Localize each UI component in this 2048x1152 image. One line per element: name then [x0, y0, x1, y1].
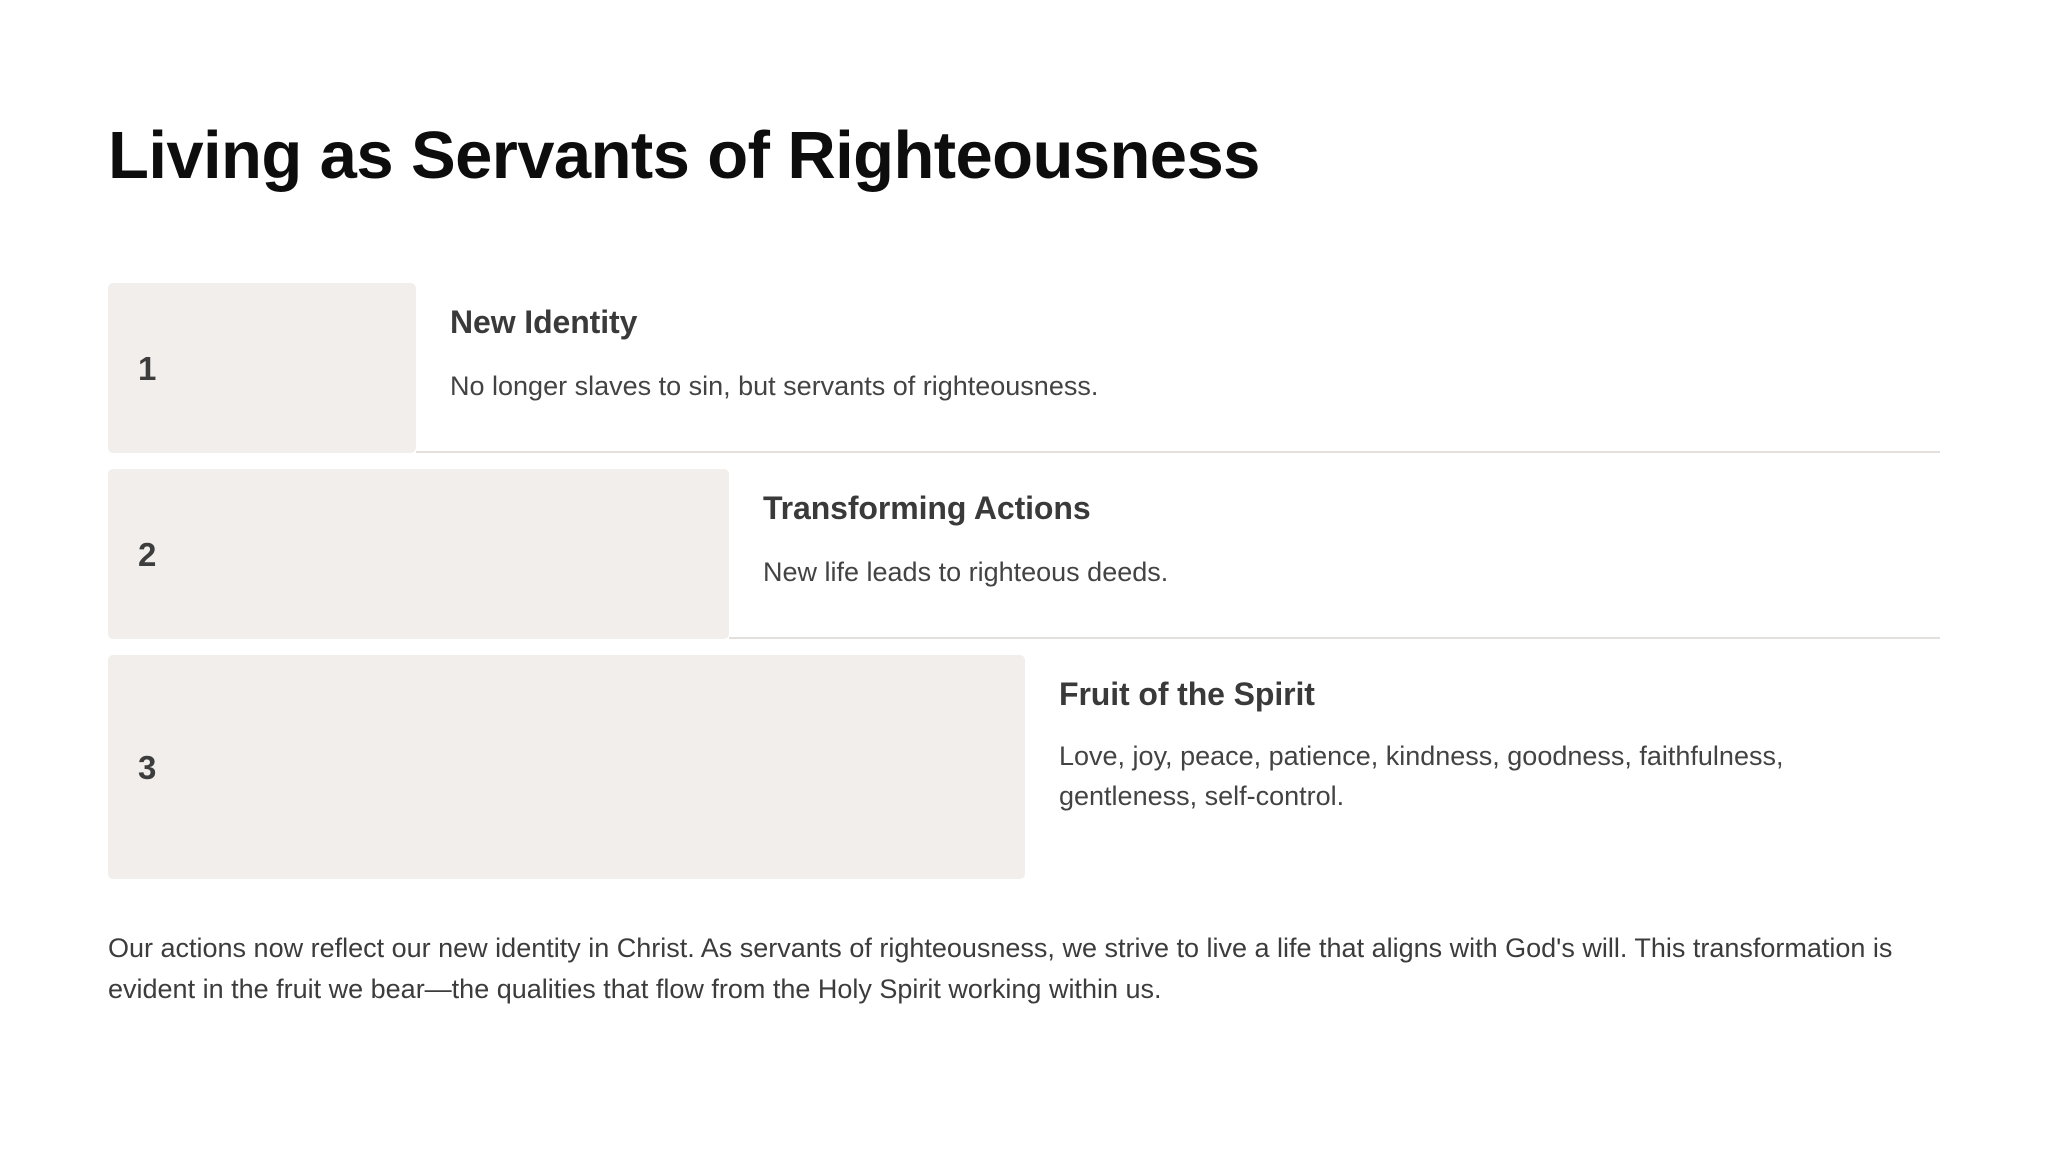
step-number-box: 3 — [108, 655, 1025, 879]
step-description: Love, joy, peace, patience, kindness, go… — [1059, 737, 1819, 815]
step-content: Transforming Actions New life leads to r… — [729, 469, 1940, 639]
document-page: Living as Servants of Righteousness 1 Ne… — [0, 0, 2048, 1152]
step-number: 1 — [138, 352, 156, 385]
list-item[interactable]: 3 Fruit of the Spirit Love, joy, peace, … — [108, 655, 1940, 879]
list-item[interactable]: 2 Transforming Actions New life leads to… — [108, 469, 1940, 639]
page-title: Living as Servants of Righteousness — [108, 118, 1260, 193]
summary-paragraph: Our actions now reflect our new identity… — [108, 928, 1946, 1010]
step-number: 3 — [138, 751, 156, 784]
list-item[interactable]: 1 New Identity No longer slaves to sin, … — [108, 283, 1940, 453]
step-number-box: 2 — [108, 469, 729, 639]
step-heading: New Identity — [450, 303, 1940, 341]
step-number-box: 1 — [108, 283, 416, 453]
step-description: No longer slaves to sin, but servants of… — [450, 367, 1940, 406]
step-description: New life leads to righteous deeds. — [763, 553, 1940, 592]
step-content: Fruit of the Spirit Love, joy, peace, pa… — [1025, 655, 1940, 879]
step-number: 2 — [138, 538, 156, 571]
step-heading: Fruit of the Spirit — [1059, 675, 1940, 713]
steps-list: 1 New Identity No longer slaves to sin, … — [108, 283, 1940, 879]
step-content: New Identity No longer slaves to sin, bu… — [416, 283, 1940, 453]
step-heading: Transforming Actions — [763, 489, 1940, 527]
